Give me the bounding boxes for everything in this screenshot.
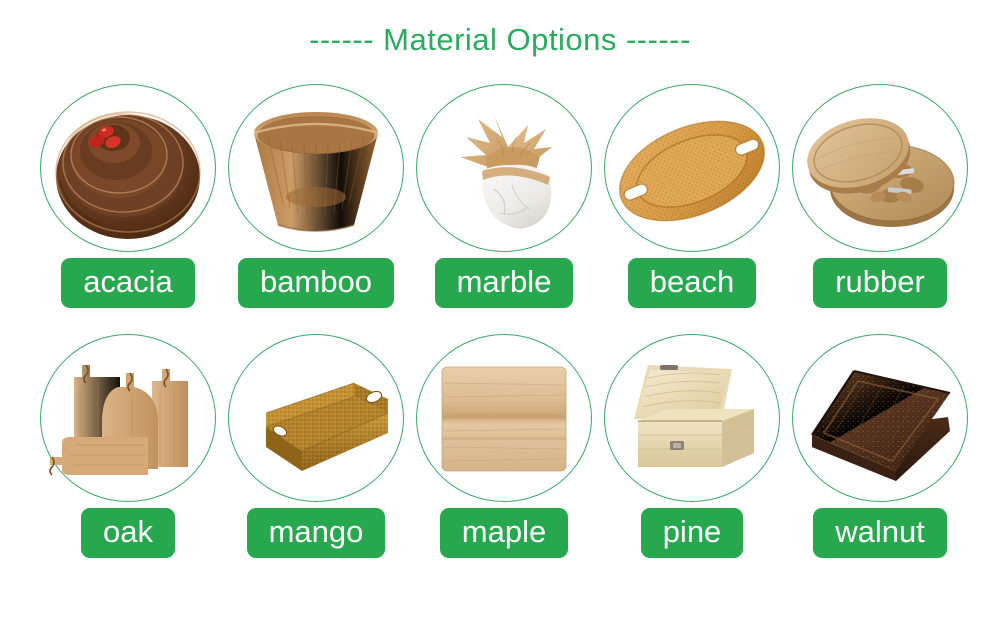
material-label-rubber[interactable]: rubber [813,258,947,308]
swivel-cheese-board-icon [792,85,968,253]
material-thumb-rubber[interactable] [780,80,980,258]
material-card-oak[interactable]: oak [28,330,228,580]
material-row-1: acacia [0,80,1000,330]
material-label-pine[interactable]: pine [641,508,744,558]
material-label-wrap[interactable]: marble [404,258,604,314]
material-label-oak[interactable]: oak [81,508,175,558]
material-label-wrap[interactable]: pine [592,508,792,564]
material-card-maple[interactable]: maple [404,330,604,580]
material-label-wrap[interactable]: mango [216,508,416,564]
material-card-bamboo[interactable]: bamboo [216,80,416,330]
material-thumb-oak[interactable] [28,330,228,508]
material-card-mango[interactable]: mango [216,330,416,580]
material-thumb-acacia[interactable] [28,80,228,258]
material-label-marble[interactable]: marble [435,258,574,308]
material-label-wrap[interactable]: oak [28,508,228,564]
material-thumb-maple[interactable] [404,330,604,508]
material-thumb-marble[interactable] [404,80,604,258]
grooved-dark-board-icon [792,335,968,503]
material-grid: acacia [0,80,1000,580]
material-thumb-pine[interactable] [592,330,792,508]
material-label-maple[interactable]: maple [440,508,568,558]
material-label-wrap[interactable]: beach [592,258,792,314]
open-wooden-box-icon [604,335,780,503]
oval-handled-tray-icon [604,85,780,253]
material-row-2: oak [0,330,1000,580]
page-title: ------ Material Options ------ [0,22,1000,58]
material-thumb-beach[interactable] [592,80,792,258]
material-card-walnut[interactable]: walnut [780,330,980,580]
material-label-wrap[interactable]: bamboo [216,258,416,314]
material-label-walnut[interactable]: walnut [813,508,947,558]
material-card-marble[interactable]: marble [404,80,604,330]
material-label-mango[interactable]: mango [247,508,386,558]
pineapple-board-icon [416,85,592,253]
paddle-boards-group-icon [40,335,216,503]
material-card-pine[interactable]: pine [592,330,792,580]
tapered-bowl-icon [228,85,404,253]
material-label-wrap[interactable]: rubber [780,258,980,314]
rectangular-tray-icon [228,335,404,503]
material-card-rubber[interactable]: rubber [780,80,980,330]
material-label-wrap[interactable]: walnut [780,508,980,564]
material-options-page: ------ Material Options ------ [0,0,1000,634]
material-thumb-mango[interactable] [216,330,416,508]
stacked-round-plates-icon [40,85,216,253]
material-label-wrap[interactable]: acacia [28,258,228,314]
material-label-bamboo[interactable]: bamboo [238,258,394,308]
material-label-acacia[interactable]: acacia [61,258,195,308]
material-card-acacia[interactable]: acacia [28,80,228,330]
material-card-beach[interactable]: beach [592,80,792,330]
plain-cutting-board-icon [416,335,592,503]
material-label-beach[interactable]: beach [628,258,756,308]
material-thumb-bamboo[interactable] [216,80,416,258]
material-thumb-walnut[interactable] [780,330,980,508]
material-label-wrap[interactable]: maple [404,508,604,564]
